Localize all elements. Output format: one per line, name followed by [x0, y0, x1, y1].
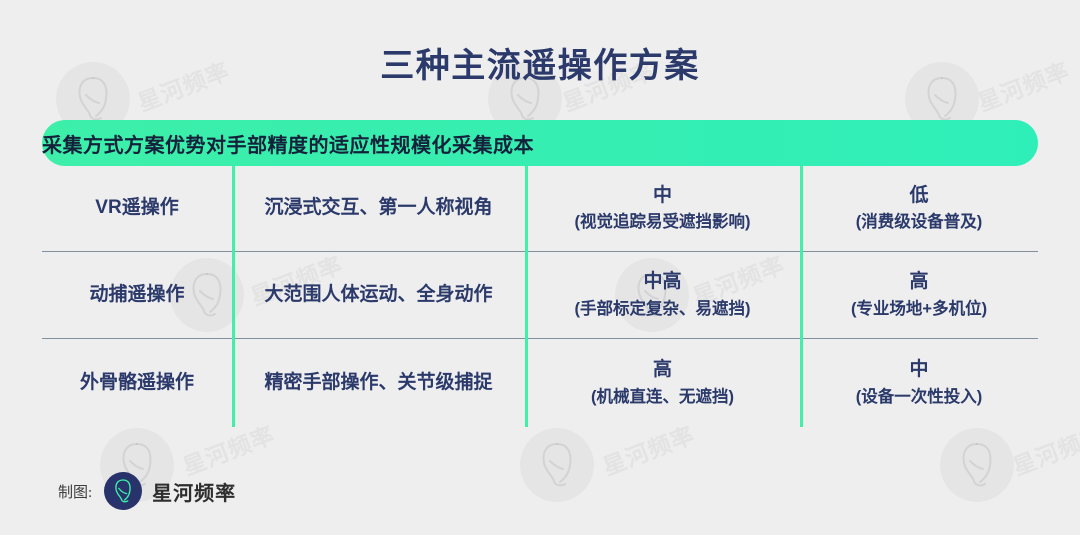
cell-precision-level: 高: [525, 356, 800, 385]
table-header-cell-advantage: 方案优势: [124, 129, 206, 158]
cell-precision-level: 中: [525, 182, 800, 211]
column-divider-3: [800, 166, 803, 427]
page-title: 三种主流遥操作方案: [0, 38, 1080, 87]
profile-silhouette-icon: [536, 441, 578, 489]
profile-silhouette-icon: [112, 478, 134, 504]
footer-credit: 制图: 星河频率: [58, 472, 236, 510]
table-header-cell-method: 采集方式: [42, 129, 124, 158]
cell-precision-level: 中高: [525, 268, 800, 297]
cell-cost-note: (设备一次性投入): [800, 385, 1038, 410]
cell-precision: 中 (视觉追踪易受遮挡影响): [525, 182, 800, 235]
cell-method: VR遥操作: [42, 194, 232, 223]
cell-cost-note: (专业场地+多机位): [800, 297, 1038, 322]
column-divider-1: [232, 166, 235, 427]
comparison-table: 采集方式 方案优势 对手部精度的适应性 规模化采集成本 VR遥操作 沉浸式交互、…: [42, 120, 1038, 427]
cell-method: 动捕遥操作: [42, 281, 232, 310]
cell-cost: 中 (设备一次性投入): [800, 356, 1038, 409]
brand-name: 星河频率: [152, 477, 236, 506]
cell-advantage: 大范围人体运动、全身动作: [232, 281, 525, 310]
table-row: VR遥操作 沉浸式交互、第一人称视角 中 (视觉追踪易受遮挡影响) 低 (消费级…: [42, 166, 1038, 251]
cell-precision-note: (手部标定复杂、易遮挡): [525, 297, 800, 322]
cell-advantage: 沉浸式交互、第一人称视角: [232, 194, 525, 223]
cell-advantage: 精密手部操作、关节级捕捉: [232, 369, 525, 398]
table-row: 外骨骼遥操作 精密手部操作、关节级捕捉 高 (机械直连、无遮挡) 中 (设备一次…: [42, 339, 1038, 427]
cell-precision-note: (视觉追踪易受遮挡影响): [525, 210, 800, 235]
cell-precision-note: (机械直连、无遮挡): [525, 385, 800, 410]
cell-cost-level: 高: [800, 268, 1038, 297]
watermark-logo: [520, 428, 594, 502]
watermark-logo: [940, 428, 1014, 502]
table-header-cell-precision: 对手部精度的适应性: [206, 129, 391, 158]
cell-cost-note: (消费级设备普及): [800, 210, 1038, 235]
cell-cost: 低 (消费级设备普及): [800, 182, 1038, 235]
column-divider-2: [525, 166, 528, 427]
table-row: 动捕遥操作 大范围人体运动、全身动作 中高 (手部标定复杂、易遮挡) 高 (专业…: [42, 252, 1038, 338]
table-header-row: 采集方式 方案优势 对手部精度的适应性 规模化采集成本: [42, 120, 1038, 166]
table-body: VR遥操作 沉浸式交互、第一人称视角 中 (视觉追踪易受遮挡影响) 低 (消费级…: [42, 166, 1038, 427]
cell-cost-level: 低: [800, 182, 1038, 211]
table-header-cell-cost: 规模化采集成本: [391, 129, 535, 158]
cell-cost: 高 (专业场地+多机位): [800, 268, 1038, 321]
cell-precision: 高 (机械直连、无遮挡): [525, 356, 800, 409]
profile-silhouette-icon: [956, 441, 998, 489]
cell-method: 外骨骼遥操作: [42, 369, 232, 398]
brand-logo: [104, 472, 142, 510]
cell-cost-level: 中: [800, 356, 1038, 385]
cell-precision: 中高 (手部标定复杂、易遮挡): [525, 268, 800, 321]
footer-label: 制图:: [58, 481, 92, 502]
